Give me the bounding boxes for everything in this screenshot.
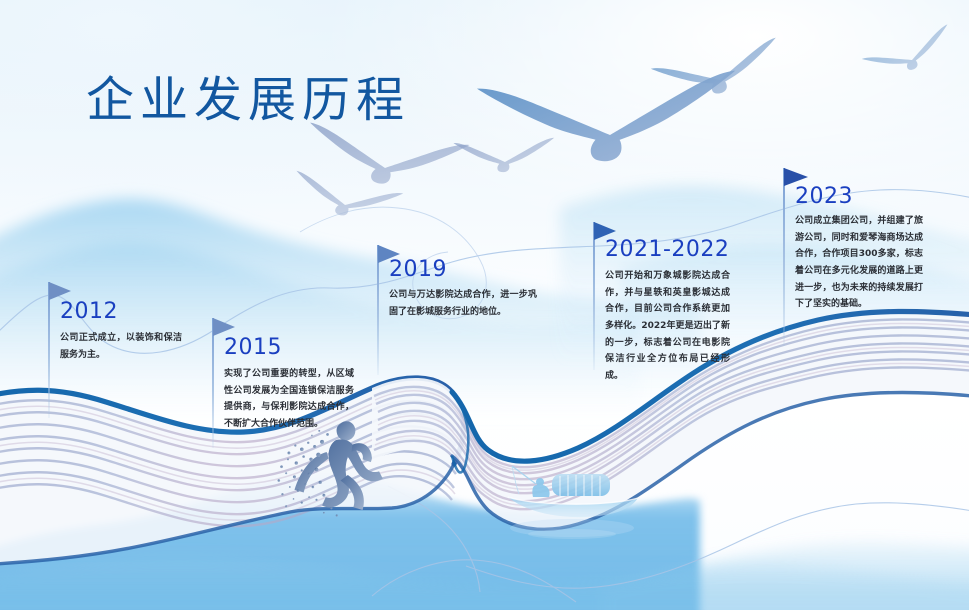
page-title: 企业发展历程	[86, 60, 410, 130]
infographic-canvas: 企业发展历程 2012 公司正式成立，以装饰和保洁服务为主。 2015 实现了公…	[0, 0, 969, 610]
flag-pole	[783, 168, 785, 346]
milestone-text: 公司成立集团公司，并组建了旅游公司，同时和爱琴海商场达成合作，合作项目300多家…	[795, 213, 923, 313]
flag-pole	[212, 318, 214, 448]
milestone-year: 2019	[389, 257, 447, 282]
seagull-icon-3	[454, 138, 556, 175]
flag-marker-icon	[49, 282, 71, 300]
milestone-year: 2012	[60, 299, 118, 324]
milestone-text: 公司与万达影院达成合作，进一步巩固了在影城服务行业的地位。	[389, 287, 537, 320]
milestone-text: 实现了公司重要的转型，从区域性公司发展为全国连锁保洁服务提供商，与保利影院达成合…	[224, 366, 354, 433]
milestone-year: 2021-2022	[605, 237, 729, 262]
flag-marker-icon	[213, 318, 235, 336]
milestone-year: 2015	[224, 335, 282, 360]
flag-pole	[593, 222, 595, 370]
milestone-year: 2023	[795, 184, 853, 209]
milestone-text: 公司正式成立，以装饰和保洁服务为主。	[60, 330, 182, 363]
flag-pole	[48, 282, 50, 418]
seagull-icon-4	[289, 171, 403, 227]
seagull-icon-2	[303, 123, 469, 196]
milestone-text: 公司开始和万象城影院达成合作，并与星轶和英皇影城达成合作，目前公司合作系统更加多…	[605, 268, 730, 384]
seagull-icon-1	[477, 71, 741, 170]
seagull-icon-5	[651, 38, 786, 108]
seagull-icon-6	[862, 24, 959, 86]
flag-pole	[377, 245, 379, 375]
